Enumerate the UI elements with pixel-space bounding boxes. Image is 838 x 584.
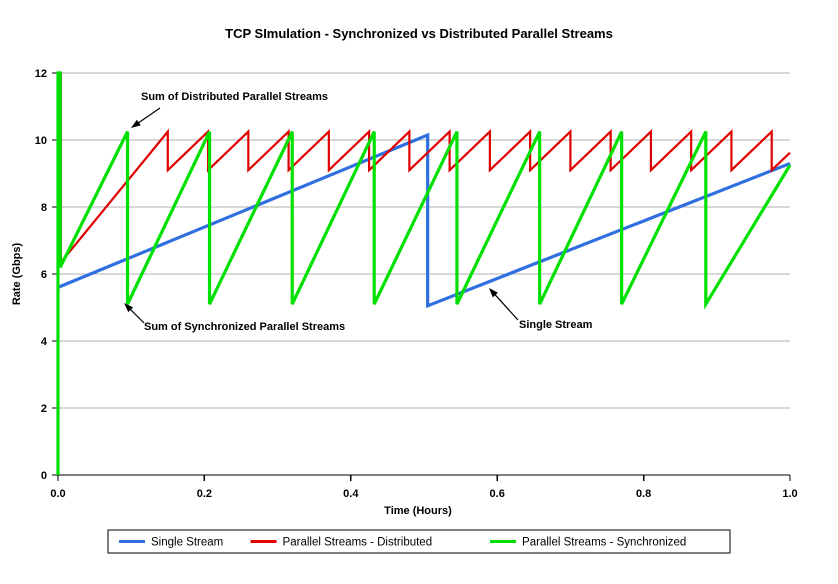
y-tick-label: 6	[41, 269, 47, 281]
x-axis-title: Time (Hours)	[384, 505, 452, 517]
y-tick-label: 2	[41, 403, 47, 415]
y-tick-label: 4	[41, 336, 48, 348]
y-axis-title: Rate (Gbps)	[11, 242, 23, 305]
x-tick-label: 0.4	[343, 488, 359, 500]
annot-synchronized-label: Sum of Synchronized Parallel Streams	[144, 321, 345, 333]
tcp-simulation-chart: TCP SImulation - Synchronized vs Distrib…	[0, 0, 838, 584]
legend-label: Parallel Streams - Synchronized	[522, 537, 686, 549]
annot-distributed-label: Sum of Distributed Parallel Streams	[141, 91, 328, 103]
x-tick-label: 0.8	[636, 488, 651, 500]
chart-title: TCP SImulation - Synchronized vs Distrib…	[225, 26, 613, 41]
y-tick-label: 10	[35, 135, 47, 147]
x-tick-label: 0.2	[197, 488, 212, 500]
legend-label: Parallel Streams - Distributed	[283, 537, 433, 549]
y-tick-label: 8	[41, 202, 47, 214]
y-tick-label: 0	[41, 470, 47, 482]
legend-label: Single Stream	[151, 537, 223, 549]
chart-container: TCP SImulation - Synchronized vs Distrib…	[0, 0, 838, 584]
x-tick-label: 0.0	[50, 488, 65, 500]
annot-single-stream-label: Single Stream	[519, 319, 593, 331]
chart-legend: Single StreamParallel Streams - Distribu…	[108, 530, 730, 553]
x-tick-label: 0.6	[490, 488, 505, 500]
y-tick-label: 12	[35, 68, 47, 80]
x-tick-label: 1.0	[782, 488, 797, 500]
